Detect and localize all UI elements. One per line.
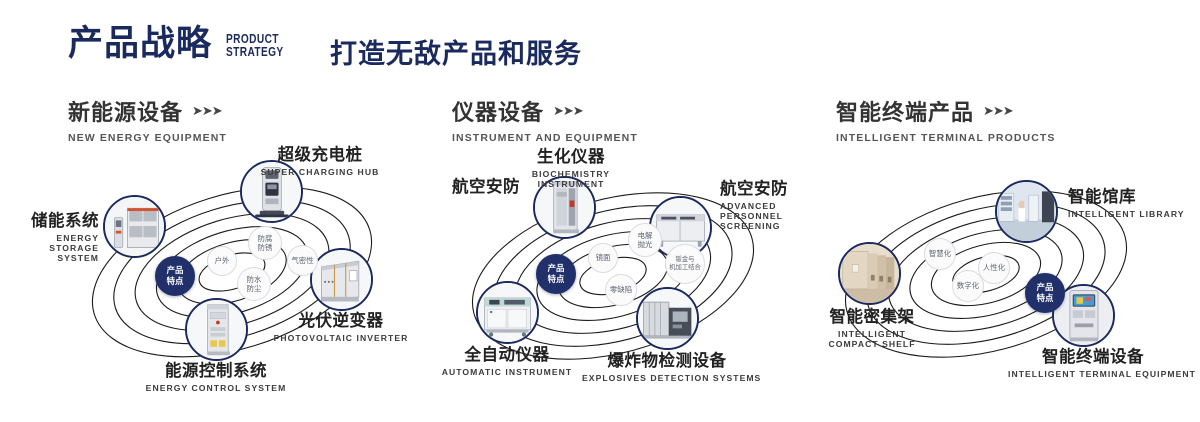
caption-intelligent-terminal-equipment: 智能终端设备 INTELLIGENT TERMINAL EQUIPMENT — [1008, 348, 1178, 379]
bubble-label-line1: 防腐 — [258, 234, 273, 243]
bubble-outdoor[interactable]: 户外 — [207, 246, 237, 276]
caption-cn: 智能密集架 — [792, 308, 952, 327]
chevron-right-arrows-icon: ➤➤➤ — [983, 103, 1013, 119]
node-explosives-detection-system[interactable] — [636, 287, 699, 350]
bubble-waterproof-dustproof[interactable]: 防水防尘 — [237, 267, 271, 301]
caption-en: ADVANCED PERSONNEL SCREENING — [720, 201, 825, 231]
bubble-product-features[interactable]: 产品特点 — [155, 256, 195, 296]
section-heading-intelligent-terminal: 智能终端产品 ➤➤➤ INTELLIGENT TERMINAL PRODUCTS — [836, 95, 1056, 144]
caption-en: INTELLIGENT COMPACT SHELF — [814, 329, 930, 349]
caption-photovoltaic-inverter: 光伏逆变器 PHOTOVOLTAIC INVERTER — [256, 312, 426, 343]
node-intelligent-compact-shelf[interactable] — [838, 242, 901, 305]
node-intelligent-library[interactable] — [995, 180, 1058, 243]
bubble-product-features[interactable]: 产品特点 — [1025, 273, 1065, 313]
caption-cn: 智能终端设备 — [1008, 348, 1178, 367]
caption-en: EXPLOSIVES DETECTION SYSTEMS — [582, 373, 752, 383]
caption-cn: 爆炸物检测设备 — [582, 352, 752, 371]
bubble-label-line2: 特点 — [167, 276, 184, 287]
page-title-english-line1: PRODUCT — [226, 32, 284, 45]
control-cabinet-icon — [187, 300, 246, 359]
bubble-label: 数字化 — [957, 281, 979, 290]
caption-en: PHOTOVOLTAIC INVERTER — [256, 333, 426, 343]
page-title-english: PRODUCT STRATEGY — [226, 32, 284, 62]
section-title-cn-text: 新能源设备 — [68, 95, 183, 127]
bubble-label-line1: 防水 — [247, 275, 262, 284]
section-title-cn-text: 仪器设备 — [452, 95, 544, 127]
bubble-label: 户外 — [215, 256, 230, 265]
section-title-en: NEW ENERGY EQUIPMENT — [68, 132, 227, 144]
bubble-electrolytic-polishing[interactable]: 电解抛光 — [628, 223, 662, 257]
smart-library-icon — [997, 182, 1056, 241]
node-energy-storage-system[interactable] — [103, 195, 166, 258]
caption-cn: 生化仪器 — [496, 148, 646, 167]
bubble-label-line1: 钣金与 — [669, 256, 700, 264]
node-energy-control-system[interactable] — [185, 298, 248, 361]
caption-cn: 全自动仪器 — [427, 346, 587, 365]
bubble-airtightness[interactable]: 气密性 — [287, 245, 318, 276]
caption-cn: 储能系统 — [14, 212, 99, 231]
node-photovoltaic-inverter[interactable] — [310, 248, 373, 311]
caption-energy-storage-system: 储能系统 ENERGY STORAGE SYSTEM — [14, 212, 99, 263]
battery-cabinet-icon — [105, 197, 164, 256]
caption-en: AUTOMATIC INSTRUMENT — [427, 367, 587, 377]
poster-header: 产品战略 PRODUCT STRATEGY — [68, 26, 300, 61]
explosives-detector-icon — [638, 289, 697, 348]
bubble-label: 气密性 — [291, 256, 313, 265]
bubble-label-line2: 防尘 — [247, 284, 262, 293]
section-heading-instrument: 仪器设备 ➤➤➤ INSTRUMENT AND EQUIPMENT — [452, 95, 638, 144]
caption-en: SUPER CHARGING HUB — [245, 167, 395, 177]
bubble-label-line2: 抛光 — [638, 240, 653, 249]
page-subtitle: 打造无敌产品和服务 — [330, 32, 582, 71]
section-heading-new-energy: 新能源设备 ➤➤➤ NEW ENERGY EQUIPMENT — [68, 95, 227, 144]
chevron-right-arrows-icon: ➤➤➤ — [553, 103, 583, 119]
page-title: 产品战略 — [68, 26, 212, 61]
bubble-sheet-metal-machining[interactable]: 钣金与机加工结合 — [665, 244, 705, 284]
page-title-english-line2: STRATEGY — [226, 45, 284, 58]
bubble-label: 零缺陷 — [610, 285, 632, 294]
bubble-product-features[interactable]: 产品特点 — [536, 254, 576, 294]
caption-en: BIOCHEMISTRY INSTRUMENT — [526, 169, 616, 189]
caption-super-charging-hub: 超级充电桩 SUPER CHARGING HUB — [245, 146, 395, 177]
caption-biochemistry-instrument: 生化仪器 BIOCHEMISTRY INSTRUMENT — [496, 148, 646, 189]
cluster-intelligent-terminal: 智能馆库 INTELLIGENT LIBRARY 智能密集架 INTELLIGE… — [820, 160, 1190, 400]
caption-energy-control-system: 能源控制系统 ENERGY CONTROL SYSTEM — [86, 362, 346, 393]
caption-cn: 超级充电桩 — [245, 146, 395, 165]
bubble-label-line1: 电解 — [638, 231, 653, 240]
bubble-zero-defect[interactable]: 零缺陷 — [605, 274, 637, 306]
bubble-label-line1: 产品 — [167, 265, 184, 276]
section-title-cn: 智能终端产品 ➤➤➤ — [836, 95, 1056, 127]
caption-intelligent-compact-shelf: 智能密集架 INTELLIGENT COMPACT SHELF — [792, 308, 952, 349]
node-automatic-instrument[interactable] — [476, 281, 539, 344]
caption-en: ENERGY CONTROL SYSTEM — [86, 383, 346, 393]
compact-shelf-icon — [840, 244, 899, 303]
bubble-label-line2: 特点 — [1037, 293, 1054, 304]
chevron-right-arrows-icon: ➤➤➤ — [192, 103, 222, 119]
section-title-en: INSTRUMENT AND EQUIPMENT — [452, 132, 638, 144]
section-title-cn-text: 智能终端产品 — [836, 95, 974, 127]
caption-en: ENERGY STORAGE SYSTEM — [14, 233, 99, 263]
caption-cn: 光伏逆变器 — [256, 312, 426, 331]
caption-cn: 能源控制系统 — [86, 362, 346, 381]
caption-explosives-detection-system: 爆炸物检测设备 EXPLOSIVES DETECTION SYSTEMS — [582, 352, 752, 383]
caption-en: INTELLIGENT TERMINAL EQUIPMENT — [1008, 369, 1178, 379]
bubble-label-line2: 特点 — [548, 274, 565, 285]
bubble-label-line1: 产品 — [548, 263, 565, 274]
bubble-digitalization[interactable]: 数字化 — [952, 270, 984, 302]
bubble-label: 镜面 — [596, 253, 611, 262]
bubble-label: 人性化 — [983, 263, 1005, 272]
section-title-cn: 仪器设备 ➤➤➤ — [452, 95, 638, 127]
bubble-intelligentization[interactable]: 智慧化 — [924, 238, 956, 270]
caption-cn: 智能馆库 — [1068, 188, 1200, 207]
cluster-instrument: 航空安防 生化仪器 BIOCHEMISTRY INSTRUMENT — [440, 150, 810, 390]
cluster-new-energy: 储能系统 ENERGY STORAGE SYSTEM 超级充电桩 SUPER C… — [60, 150, 420, 390]
bubble-anti-corrosion[interactable]: 防腐防锈 — [248, 226, 282, 260]
inverter-cabinet-icon — [312, 250, 371, 309]
section-title-en: INTELLIGENT TERMINAL PRODUCTS — [836, 132, 1056, 144]
section-title-cn: 新能源设备 ➤➤➤ — [68, 95, 227, 127]
automatic-instrument-icon — [478, 283, 537, 342]
caption-automatic-instrument: 全自动仪器 AUTOMATIC INSTRUMENT — [427, 346, 587, 377]
bubble-label: 智慧化 — [929, 249, 951, 258]
poster-canvas: 产品战略 PRODUCT STRATEGY 打造无敌产品和服务 新能源设备 ➤➤… — [0, 0, 1200, 422]
bubble-label-line2: 机加工结合 — [669, 264, 700, 272]
bubble-label-line1: 产品 — [1037, 282, 1054, 293]
bubble-mirror-finish[interactable]: 镜面 — [588, 243, 618, 273]
bubble-label-line2: 防锈 — [258, 243, 273, 252]
caption-en: INTELLIGENT LIBRARY — [1068, 209, 1200, 219]
caption-intelligent-library: 智能馆库 INTELLIGENT LIBRARY — [1068, 188, 1200, 219]
